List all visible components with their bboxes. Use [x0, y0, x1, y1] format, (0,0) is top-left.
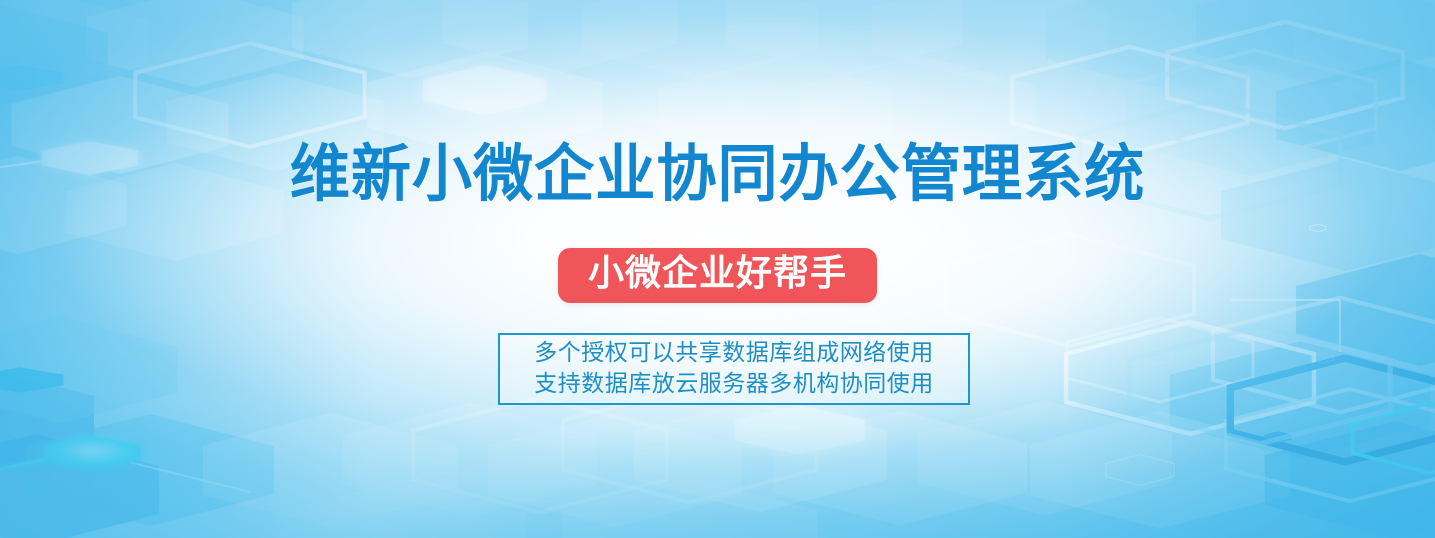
tagline-badge: 小微企业好帮手	[558, 248, 877, 303]
page-title: 维新小微企业协同办公管理系统	[22, 140, 1414, 208]
feature-line-1: 多个授权可以共享数据库组成网络使用	[534, 338, 934, 369]
tagline-badge-container: 小微企业好帮手	[0, 248, 1435, 303]
feature-description-box: 多个授权可以共享数据库组成网络使用 支持数据库放云服务器多机构协同使用	[498, 333, 970, 405]
banner-content: 维新小微企业协同办公管理系统 小微企业好帮手 多个授权可以共享数据库组成网络使用…	[0, 0, 1435, 538]
promo-banner: 维新小微企业协同办公管理系统 小微企业好帮手 多个授权可以共享数据库组成网络使用…	[0, 0, 1435, 538]
feature-line-2: 支持数据库放云服务器多机构协同使用	[534, 369, 934, 400]
